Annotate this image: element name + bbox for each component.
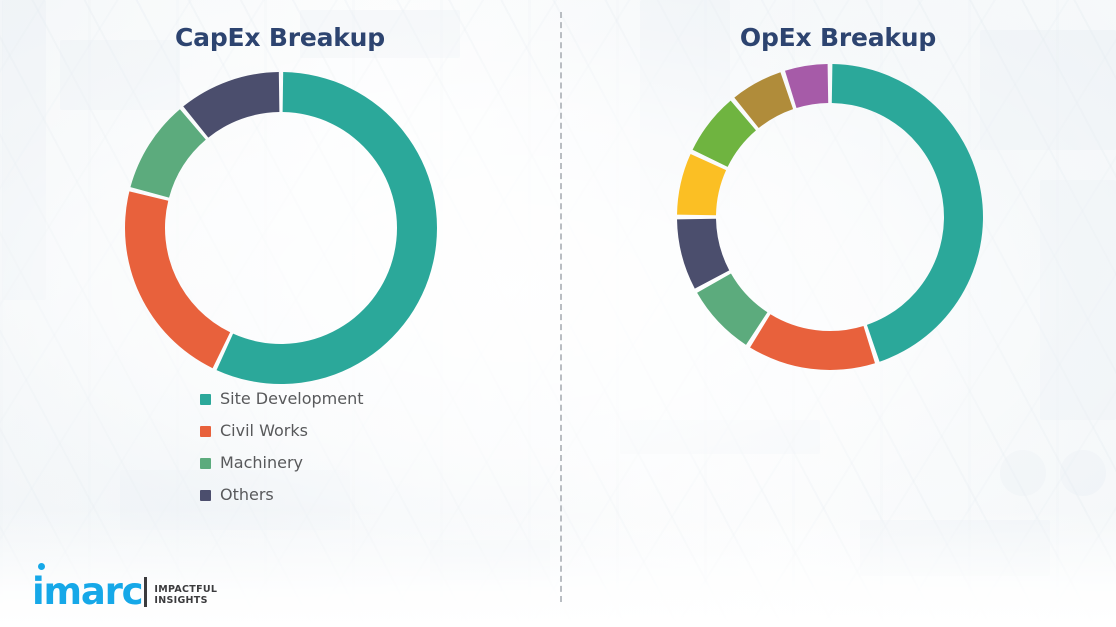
logo-wordmark-text: imarc — [32, 570, 142, 613]
capex-donut-chart — [113, 60, 449, 396]
legend-swatch-icon — [200, 426, 211, 437]
imarc-logo: imarc IMPACTFUL INSIGHTS — [32, 575, 217, 609]
donut-slice[interactable] — [785, 64, 828, 108]
donut-slice[interactable] — [677, 219, 729, 289]
opex-panel: OpEx Breakup Raw Materials Salaries and … — [560, 0, 1116, 627]
legend-item[interactable]: Civil Works — [200, 422, 364, 440]
legend-label: Site Development — [220, 390, 364, 408]
opex-donut-svg — [675, 62, 985, 372]
donut-slice[interactable] — [832, 64, 983, 362]
capex-legend: Site Development Civil Works Machinery O… — [200, 390, 364, 504]
logo-tagline-line1: IMPACTFUL — [154, 584, 217, 595]
legend-item[interactable]: Site Development — [200, 390, 364, 408]
donut-slice[interactable] — [125, 191, 230, 368]
donut-slice[interactable] — [217, 72, 437, 384]
logo-tagline: IMPACTFUL INSIGHTS — [154, 584, 217, 609]
page-title-capex: CapEx Breakup — [0, 23, 560, 52]
capex-donut-svg — [113, 60, 449, 396]
donut-slice[interactable] — [677, 154, 726, 215]
donut-slice[interactable] — [750, 314, 875, 370]
opex-donut-chart — [675, 62, 985, 372]
logo-wordmark: imarc — [32, 575, 142, 609]
logo-divider-bar — [144, 577, 147, 607]
donut-slice[interactable] — [130, 109, 205, 197]
logo-tagline-line2: INSIGHTS — [154, 595, 217, 606]
legend-swatch-icon — [200, 458, 211, 469]
legend-label: Civil Works — [220, 422, 308, 440]
legend-item[interactable]: Machinery — [200, 454, 364, 472]
donut-slice[interactable] — [183, 72, 279, 138]
capex-panel: CapEx Breakup Site Development Civil Wor… — [0, 0, 560, 627]
donut-slice[interactable] — [697, 273, 767, 344]
legend-label: Machinery — [220, 454, 303, 472]
page-title-opex: OpEx Breakup — [560, 23, 1116, 52]
legend-item[interactable]: Others — [200, 486, 364, 504]
slide-canvas: CapEx Breakup Site Development Civil Wor… — [0, 0, 1116, 627]
legend-label: Others — [220, 486, 274, 504]
legend-swatch-icon — [200, 394, 211, 405]
legend-swatch-icon — [200, 490, 211, 501]
logo-dot-icon — [38, 563, 45, 570]
